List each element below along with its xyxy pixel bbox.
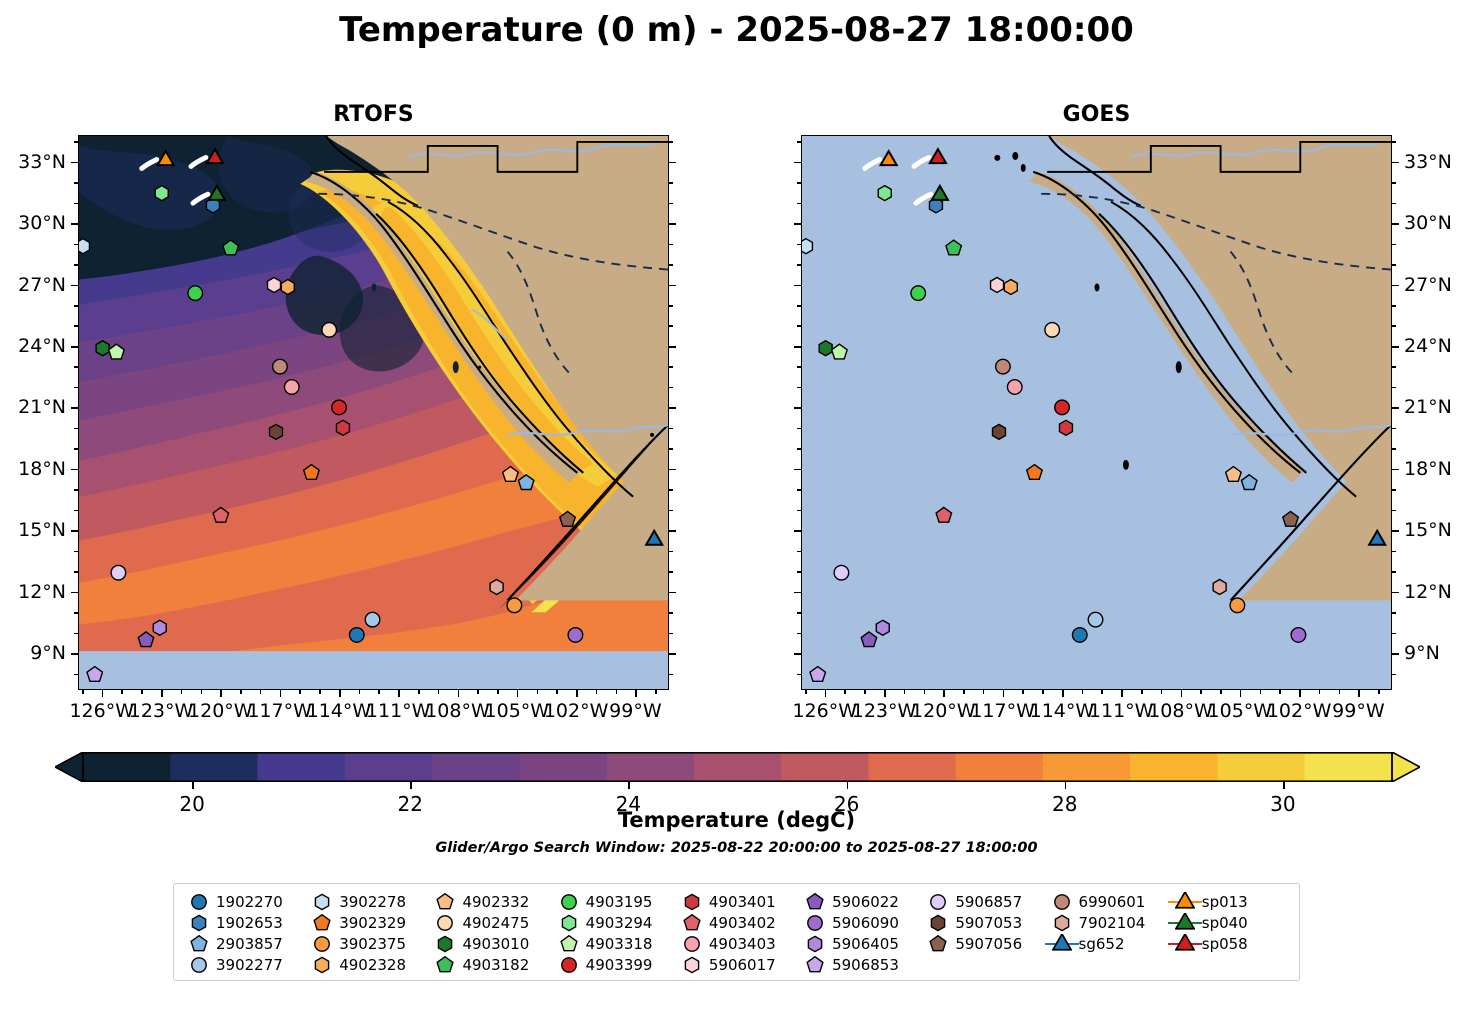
platform-marker-4903399[interactable] bbox=[332, 400, 347, 415]
circle-glyph bbox=[192, 894, 206, 908]
ytick-left-rtofs-12 bbox=[71, 592, 78, 594]
legend-item-sp013[interactable]: sp013 bbox=[1168, 891, 1291, 912]
ytick-label-left-4: 21°N bbox=[0, 396, 66, 418]
platform-marker-3902375[interactable] bbox=[507, 598, 522, 613]
platform-marker-3902278[interactable] bbox=[79, 239, 89, 254]
ytick-left-rtofs-29 bbox=[74, 244, 78, 246]
platform-marker-4903182[interactable] bbox=[223, 240, 238, 255]
triangle-glyph bbox=[1052, 934, 1070, 950]
xtick-goes--103 bbox=[1279, 690, 1281, 694]
legend[interactable]: 1902270190265329038573902277390227839023… bbox=[173, 883, 1300, 981]
map-canvas-rtofs[interactable] bbox=[78, 135, 669, 690]
ytick-right-rtofs-12 bbox=[669, 592, 676, 594]
ytick-right-rtofs-13 bbox=[669, 571, 673, 573]
legend-label-5906017: 5906017 bbox=[709, 956, 776, 974]
legend-item-1902653[interactable]: 1902653 bbox=[182, 912, 305, 933]
hexagon-glyph bbox=[1055, 915, 1068, 930]
legend-marker-3902277 bbox=[182, 955, 216, 975]
ytick-label-left-7: 30°N bbox=[0, 212, 66, 234]
ytick-right-goes-32 bbox=[1392, 182, 1396, 184]
platform-marker-4903010[interactable] bbox=[819, 341, 832, 356]
platform-marker-4903195[interactable] bbox=[911, 286, 926, 301]
glider-track-sp058 bbox=[191, 157, 206, 166]
ytick-left-goes-34 bbox=[797, 141, 801, 143]
platform-marker-sp040[interactable] bbox=[932, 186, 948, 200]
legend-label-4903010: 4903010 bbox=[462, 935, 529, 953]
legend-item-6990601[interactable]: 6990601 bbox=[1045, 891, 1168, 912]
triangle-icon bbox=[1175, 913, 1195, 933]
colorbar-band-1 bbox=[170, 752, 258, 782]
legend-item-4903401[interactable]: 4903401 bbox=[675, 891, 798, 912]
ytick-left-rtofs-24 bbox=[71, 346, 78, 348]
ytick-left-goes-16 bbox=[797, 510, 801, 512]
pentagon-glyph bbox=[807, 893, 823, 908]
legend-column-2: 4902332490247549030104903182 bbox=[428, 891, 551, 975]
platform-marker-3902277[interactable] bbox=[1088, 612, 1103, 627]
colorbar-tick-3 bbox=[847, 782, 849, 789]
legend-label-1902270: 1902270 bbox=[216, 893, 283, 911]
platform-marker-7902104[interactable] bbox=[1213, 579, 1226, 594]
ytick-right-goes-24 bbox=[1392, 346, 1399, 348]
panel-title-rtofs: RTOFS bbox=[78, 102, 669, 127]
platform-marker-4903403[interactable] bbox=[1007, 380, 1022, 395]
legend-label-sp058: sp058 bbox=[1202, 935, 1248, 953]
circle-icon bbox=[1052, 892, 1072, 912]
legend-marker-5906857 bbox=[921, 892, 955, 912]
xtick-goes--115 bbox=[1042, 690, 1044, 694]
legend-column-5: 5906022590609059064055906853 bbox=[798, 891, 921, 975]
legend-item-2903857[interactable]: 2903857 bbox=[182, 933, 305, 954]
platform-marker-2903857[interactable] bbox=[1241, 475, 1256, 490]
ytick-label-left-6: 27°N bbox=[0, 274, 66, 296]
xtick-label-goes-4: 114°W bbox=[1030, 700, 1095, 722]
pentagon-glyph bbox=[191, 935, 207, 950]
ytick-left-goes-20 bbox=[797, 428, 801, 430]
legend-label-5906405: 5906405 bbox=[832, 935, 899, 953]
triangle-icon bbox=[1175, 892, 1195, 912]
ytick-right-goes-16 bbox=[1392, 510, 1396, 512]
ytick-left-goes-17 bbox=[797, 489, 801, 491]
ytick-label-right-1: 12°N bbox=[1404, 581, 1452, 603]
hexagon-glyph bbox=[439, 936, 452, 951]
ytick-right-goes-34 bbox=[1392, 141, 1396, 143]
platform-marker-4902475[interactable] bbox=[1045, 323, 1060, 338]
xtick-label-rtofs-2: 120°W bbox=[188, 700, 253, 722]
legend-column-6: 590685759070535907056 bbox=[921, 891, 1044, 954]
circle-glyph bbox=[931, 894, 945, 908]
ytick-right-goes-29 bbox=[1392, 244, 1396, 246]
panel-goes: GOES bbox=[801, 135, 1392, 690]
legend-item-4903403[interactable]: 4903403 bbox=[675, 933, 798, 954]
legend-label-4903195: 4903195 bbox=[586, 893, 653, 911]
colorbar-band-7 bbox=[694, 752, 782, 782]
ytick-left-rtofs-32 bbox=[74, 182, 78, 184]
xtick-label-goes-9: 99°W bbox=[1332, 700, 1384, 722]
xtick-goes--105 bbox=[1240, 690, 1242, 697]
legend-marker-7902104 bbox=[1045, 913, 1079, 933]
ytick-left-rtofs-19 bbox=[74, 448, 78, 450]
legend-marker-3902278 bbox=[305, 892, 339, 912]
legend-item-3902278[interactable]: 3902278 bbox=[305, 891, 428, 912]
xtick-goes--109 bbox=[1161, 690, 1163, 694]
pentagon-icon bbox=[805, 892, 825, 912]
legend-item-3902329[interactable]: 3902329 bbox=[305, 912, 428, 933]
ytick-left-goes-24 bbox=[794, 346, 801, 348]
colorbar-band-5 bbox=[519, 752, 607, 782]
platform-marker-5906090[interactable] bbox=[1291, 628, 1306, 643]
ytick-left-rtofs-9 bbox=[71, 653, 78, 655]
platform-marker-4903294[interactable] bbox=[878, 186, 891, 201]
colorbar-band-3 bbox=[345, 752, 433, 782]
platform-marker-5907053[interactable] bbox=[993, 424, 1006, 439]
circle-glyph bbox=[438, 915, 452, 929]
platform-marker-sp058[interactable] bbox=[207, 149, 223, 163]
platform-marker-4902328[interactable] bbox=[281, 280, 294, 295]
ytick-left-rtofs-8 bbox=[74, 674, 78, 676]
colorbar-tick-0 bbox=[192, 782, 194, 789]
platform-marker-3902277[interactable] bbox=[365, 612, 380, 627]
xtick-goes--125 bbox=[844, 690, 846, 694]
legend-item-1902270[interactable]: 1902270 bbox=[182, 891, 305, 912]
glider-track-sp058 bbox=[914, 157, 929, 166]
ytick-left-goes-15 bbox=[794, 530, 801, 532]
triangle-glyph bbox=[1176, 913, 1194, 929]
search-window-caption: Glider/Argo Search Window: 2025-08-22 20… bbox=[0, 840, 1473, 856]
platform-marker-4903402[interactable] bbox=[936, 507, 951, 522]
ytick-right-rtofs-17 bbox=[669, 489, 673, 491]
platform-marker-4903318[interactable] bbox=[832, 344, 847, 359]
ytick-right-rtofs-27 bbox=[669, 285, 676, 287]
xtick-rtofs--101 bbox=[596, 690, 598, 694]
platform-marker-4903182[interactable] bbox=[946, 240, 961, 255]
xtick-rtofs--106 bbox=[497, 690, 499, 694]
colorbar[interactable]: 202224262830 bbox=[55, 752, 1420, 782]
ytick-right-rtofs-20 bbox=[669, 428, 673, 430]
ytick-right-goes-31 bbox=[1392, 203, 1396, 205]
legend-item-5907053[interactable]: 5907053 bbox=[921, 912, 1044, 933]
colorbar-band-13 bbox=[1217, 752, 1305, 782]
xtick-goes--112 bbox=[1101, 690, 1103, 694]
hexagon-glyph bbox=[808, 936, 821, 951]
circle-glyph bbox=[1054, 894, 1068, 908]
colorbar-tick-4 bbox=[1065, 782, 1067, 789]
legend-item-3902277[interactable]: 3902277 bbox=[182, 954, 305, 975]
xtick-rtofs--117 bbox=[280, 690, 282, 697]
colorbar-extend-max bbox=[1392, 752, 1420, 782]
xtick-goes--100 bbox=[1339, 690, 1341, 694]
xtick-rtofs--108 bbox=[458, 690, 460, 697]
legend-column-7: 69906017902104sg652 bbox=[1045, 891, 1168, 954]
platform-marker-5906090[interactable] bbox=[568, 628, 583, 643]
xtick-rtofs--121 bbox=[201, 690, 203, 694]
pentagon-glyph bbox=[684, 914, 700, 929]
platform-marker-4903399[interactable] bbox=[1055, 400, 1070, 415]
hexagon-icon bbox=[682, 955, 702, 975]
ytick-right-rtofs-26 bbox=[669, 305, 673, 307]
platform-marker-4902332[interactable] bbox=[1226, 467, 1241, 482]
legend-marker-4903403 bbox=[675, 934, 709, 954]
ytick-label-right-0: 9°N bbox=[1404, 642, 1440, 664]
legend-item-4902332[interactable]: 4902332 bbox=[428, 891, 551, 912]
colorbar-tick-2 bbox=[628, 782, 630, 789]
ytick-left-rtofs-11 bbox=[74, 612, 78, 614]
colorbar-band-14 bbox=[1305, 752, 1393, 782]
xtick-rtofs--99 bbox=[635, 690, 637, 697]
page-title: Temperature (0 m) - 2025-08-27 18:00:00 bbox=[0, 10, 1473, 50]
legend-item-4903195[interactable]: 4903195 bbox=[552, 891, 675, 912]
platform-marker-5907056[interactable] bbox=[560, 511, 575, 526]
colorbar-band-10 bbox=[956, 752, 1044, 782]
xtick-goes--123 bbox=[884, 690, 886, 697]
platform-marker-4903318[interactable] bbox=[109, 344, 124, 359]
legend-item-sp040[interactable]: sp040 bbox=[1168, 912, 1291, 933]
xtick-goes--114 bbox=[1062, 690, 1064, 697]
ytick-left-rtofs-28 bbox=[74, 264, 78, 266]
legend-item-5907056[interactable]: 5907056 bbox=[921, 933, 1044, 954]
platform-marker-4903010[interactable] bbox=[96, 341, 109, 356]
legend-item-4903010[interactable]: 4903010 bbox=[428, 933, 551, 954]
platform-marker-5906857[interactable] bbox=[111, 565, 126, 580]
platform-marker-4902332[interactable] bbox=[503, 467, 518, 482]
ytick-right-rtofs-10 bbox=[669, 633, 673, 635]
legend-item-3902375[interactable]: 3902375 bbox=[305, 933, 428, 954]
platform-marker-3902329[interactable] bbox=[1027, 465, 1042, 480]
xtick-goes--99 bbox=[1358, 690, 1360, 697]
ytick-left-rtofs-13 bbox=[74, 571, 78, 573]
glider-track-sp040 bbox=[916, 194, 931, 203]
platform-marker-3902329[interactable] bbox=[304, 465, 319, 480]
legend-column-4: 4903401490340249034035906017 bbox=[675, 891, 798, 975]
xtick-label-goes-1: 123°W bbox=[852, 700, 917, 722]
xtick-label-rtofs-9: 99°W bbox=[609, 700, 661, 722]
ytick-left-rtofs-18 bbox=[71, 469, 78, 471]
xtick-goes--101 bbox=[1319, 690, 1321, 694]
platform-marker-3902278[interactable] bbox=[802, 239, 812, 254]
circle-icon bbox=[805, 913, 825, 933]
xtick-goes--119 bbox=[963, 690, 965, 694]
platform-marker-5906857[interactable] bbox=[834, 565, 849, 580]
legend-label-5906022: 5906022 bbox=[832, 893, 899, 911]
platform-marker-sp058[interactable] bbox=[930, 149, 946, 163]
hexagon-icon bbox=[1052, 913, 1072, 933]
legend-item-5906090[interactable]: 5906090 bbox=[798, 912, 921, 933]
ytick-right-rtofs-31 bbox=[669, 203, 673, 205]
legend-marker-3902375 bbox=[305, 934, 339, 954]
pentagon-icon bbox=[928, 934, 948, 954]
platform-marker-5907056[interactable] bbox=[1283, 511, 1298, 526]
platform-marker-4903401[interactable] bbox=[336, 420, 349, 435]
xtick-label-rtofs-3: 117°W bbox=[247, 700, 312, 722]
platform-marker-5906853[interactable] bbox=[810, 667, 825, 682]
legend-marker-4903182 bbox=[428, 955, 462, 975]
platform-marker-5906022[interactable] bbox=[861, 632, 876, 647]
ytick-left-goes-28 bbox=[797, 264, 801, 266]
legend-item-sg652[interactable]: sg652 bbox=[1045, 933, 1168, 954]
ytick-right-rtofs-34 bbox=[669, 141, 673, 143]
xtick-goes--126 bbox=[825, 690, 827, 697]
legend-label-3902375: 3902375 bbox=[339, 935, 406, 953]
rtofs-marker-layer[interactable] bbox=[79, 136, 668, 689]
legend-item-4902328[interactable]: 4902328 bbox=[305, 954, 428, 975]
triangle-icon bbox=[1175, 934, 1195, 954]
hexagon-icon bbox=[682, 892, 702, 912]
legend-label-sp013: sp013 bbox=[1202, 893, 1248, 911]
platform-marker-4903294[interactable] bbox=[155, 186, 168, 201]
platform-marker-3902375[interactable] bbox=[1230, 598, 1245, 613]
xtick-rtofs--122 bbox=[181, 690, 183, 694]
platform-marker-sp013[interactable] bbox=[881, 151, 897, 165]
platform-marker-4903402[interactable] bbox=[213, 507, 228, 522]
legend-marker-5907053 bbox=[921, 913, 955, 933]
platform-marker-5906853[interactable] bbox=[87, 667, 102, 682]
ytick-label-right-4: 21°N bbox=[1404, 396, 1452, 418]
xtick-rtofs--125 bbox=[121, 690, 123, 694]
xtick-label-goes-2: 120°W bbox=[911, 700, 976, 722]
circle-glyph bbox=[561, 894, 575, 908]
platform-marker-sp040[interactable] bbox=[209, 186, 225, 200]
ytick-right-goes-26 bbox=[1392, 305, 1396, 307]
legend-column-3: 4903195490329449033184903399 bbox=[552, 891, 675, 975]
xtick-rtofs--115 bbox=[319, 690, 321, 694]
legend-item-4903294[interactable]: 4903294 bbox=[552, 912, 675, 933]
legend-item-4903318[interactable]: 4903318 bbox=[552, 933, 675, 954]
legend-marker-4902332 bbox=[428, 892, 462, 912]
hexagon-icon bbox=[189, 913, 209, 933]
pentagon-icon bbox=[435, 892, 455, 912]
legend-item-5906853[interactable]: 5906853 bbox=[798, 954, 921, 975]
circle-icon bbox=[559, 955, 579, 975]
ytick-right-goes-30 bbox=[1392, 223, 1399, 225]
ytick-right-rtofs-30 bbox=[669, 223, 676, 225]
ytick-left-goes-21 bbox=[794, 407, 801, 409]
legend-item-7902104[interactable]: 7902104 bbox=[1045, 912, 1168, 933]
platform-marker-2903857[interactable] bbox=[518, 475, 533, 490]
ytick-left-rtofs-33 bbox=[71, 162, 78, 164]
xtick-goes--106 bbox=[1220, 690, 1222, 694]
platform-marker-sp013[interactable] bbox=[158, 151, 174, 165]
ytick-right-goes-20 bbox=[1392, 428, 1396, 430]
triangle-icon bbox=[1052, 934, 1072, 954]
xtick-label-rtofs-6: 108°W bbox=[425, 700, 490, 722]
ytick-right-rtofs-23 bbox=[669, 366, 673, 368]
xtick-goes--102 bbox=[1299, 690, 1301, 697]
legend-label-sp040: sp040 bbox=[1202, 914, 1248, 932]
hexagon-glyph bbox=[562, 915, 575, 930]
xtick-label-goes-3: 117°W bbox=[970, 700, 1035, 722]
platform-marker-5906405[interactable] bbox=[153, 620, 166, 635]
glider-track-sp013 bbox=[142, 159, 157, 168]
legend-item-sp058[interactable]: sp058 bbox=[1168, 933, 1291, 954]
legend-label-4903318: 4903318 bbox=[586, 935, 653, 953]
legend-column-0: 1902270190265329038573902277 bbox=[182, 891, 305, 975]
ytick-right-goes-10 bbox=[1392, 633, 1396, 635]
ytick-left-rtofs-25 bbox=[74, 325, 78, 327]
hexagon-icon bbox=[312, 892, 332, 912]
legend-label-5907056: 5907056 bbox=[955, 935, 1022, 953]
ytick-right-rtofs-33 bbox=[669, 162, 676, 164]
pentagon-icon bbox=[312, 913, 332, 933]
platform-marker-7902104[interactable] bbox=[490, 579, 503, 594]
goes-marker-layer[interactable] bbox=[802, 136, 1391, 689]
xtick-label-rtofs-4: 114°W bbox=[307, 700, 372, 722]
xtick-goes--118 bbox=[983, 690, 985, 694]
map-canvas-goes[interactable] bbox=[801, 135, 1392, 690]
platform-marker-6990601[interactable] bbox=[273, 359, 288, 374]
ytick-right-goes-14 bbox=[1392, 551, 1396, 553]
pentagon-glyph bbox=[561, 935, 577, 950]
platform-marker-sg652[interactable] bbox=[646, 531, 662, 545]
legend-item-5906022[interactable]: 5906022 bbox=[798, 891, 921, 912]
ytick-label-left-1: 12°N bbox=[0, 581, 66, 603]
platform-marker-4903195[interactable] bbox=[188, 286, 203, 301]
legend-marker-4903401 bbox=[675, 892, 709, 912]
ytick-left-goes-19 bbox=[797, 448, 801, 450]
legend-marker-4902475 bbox=[428, 913, 462, 933]
colorbar-band-6 bbox=[607, 752, 695, 782]
ytick-right-goes-18 bbox=[1392, 469, 1399, 471]
ytick-left-goes-22 bbox=[797, 387, 801, 389]
platform-marker-4902475[interactable] bbox=[322, 323, 337, 338]
legend-marker-3902329 bbox=[305, 913, 339, 933]
legend-item-4903399[interactable]: 4903399 bbox=[552, 954, 675, 975]
platform-marker-5906017[interactable] bbox=[991, 277, 1004, 292]
platform-marker-5907053[interactable] bbox=[270, 424, 283, 439]
platform-marker-sg652[interactable] bbox=[1369, 531, 1385, 545]
ytick-right-rtofs-28 bbox=[669, 264, 673, 266]
ytick-label-left-5: 24°N bbox=[0, 335, 66, 357]
colorbar-extend-min bbox=[55, 752, 83, 782]
hexagon-glyph bbox=[316, 894, 329, 909]
legend-marker-4902328 bbox=[305, 955, 339, 975]
panel-title-goes: GOES bbox=[801, 102, 1392, 127]
legend-item-5906405[interactable]: 5906405 bbox=[798, 933, 921, 954]
legend-label-4902332: 4902332 bbox=[462, 893, 529, 911]
ytick-left-goes-31 bbox=[797, 203, 801, 205]
legend-item-4903402[interactable]: 4903402 bbox=[675, 912, 798, 933]
platform-marker-5906405[interactable] bbox=[876, 620, 889, 635]
platform-marker-4903401[interactable] bbox=[1059, 420, 1072, 435]
legend-marker-1902270 bbox=[182, 892, 216, 912]
legend-item-5906017[interactable]: 5906017 bbox=[675, 954, 798, 975]
platform-marker-1902270[interactable] bbox=[1072, 628, 1087, 643]
legend-item-4903182[interactable]: 4903182 bbox=[428, 954, 551, 975]
platform-marker-4903403[interactable] bbox=[284, 380, 299, 395]
platform-marker-4902328[interactable] bbox=[1004, 280, 1017, 295]
ytick-left-rtofs-31 bbox=[74, 203, 78, 205]
colorbar-band-0 bbox=[83, 752, 171, 782]
circle-glyph bbox=[192, 957, 206, 971]
platform-marker-5906017[interactable] bbox=[268, 277, 281, 292]
legend-marker-1902653 bbox=[182, 913, 216, 933]
platform-marker-6990601[interactable] bbox=[996, 359, 1011, 374]
platform-marker-5906022[interactable] bbox=[138, 632, 153, 647]
ytick-left-rtofs-17 bbox=[74, 489, 78, 491]
ytick-left-rtofs-16 bbox=[74, 510, 78, 512]
legend-label-4903182: 4903182 bbox=[462, 956, 529, 974]
colorbar-band-9 bbox=[868, 752, 956, 782]
xtick-label-rtofs-8: 102°W bbox=[544, 700, 609, 722]
platform-marker-1902270[interactable] bbox=[349, 628, 364, 643]
legend-item-4902475[interactable]: 4902475 bbox=[428, 912, 551, 933]
ytick-left-rtofs-20 bbox=[74, 428, 78, 430]
legend-item-5906857[interactable]: 5906857 bbox=[921, 891, 1044, 912]
ytick-left-goes-11 bbox=[797, 612, 801, 614]
xtick-label-rtofs-7: 105°W bbox=[485, 700, 550, 722]
pentagon-icon bbox=[559, 934, 579, 954]
ytick-right-rtofs-14 bbox=[669, 551, 673, 553]
legend-marker-4903402 bbox=[675, 913, 709, 933]
circle-icon bbox=[928, 892, 948, 912]
